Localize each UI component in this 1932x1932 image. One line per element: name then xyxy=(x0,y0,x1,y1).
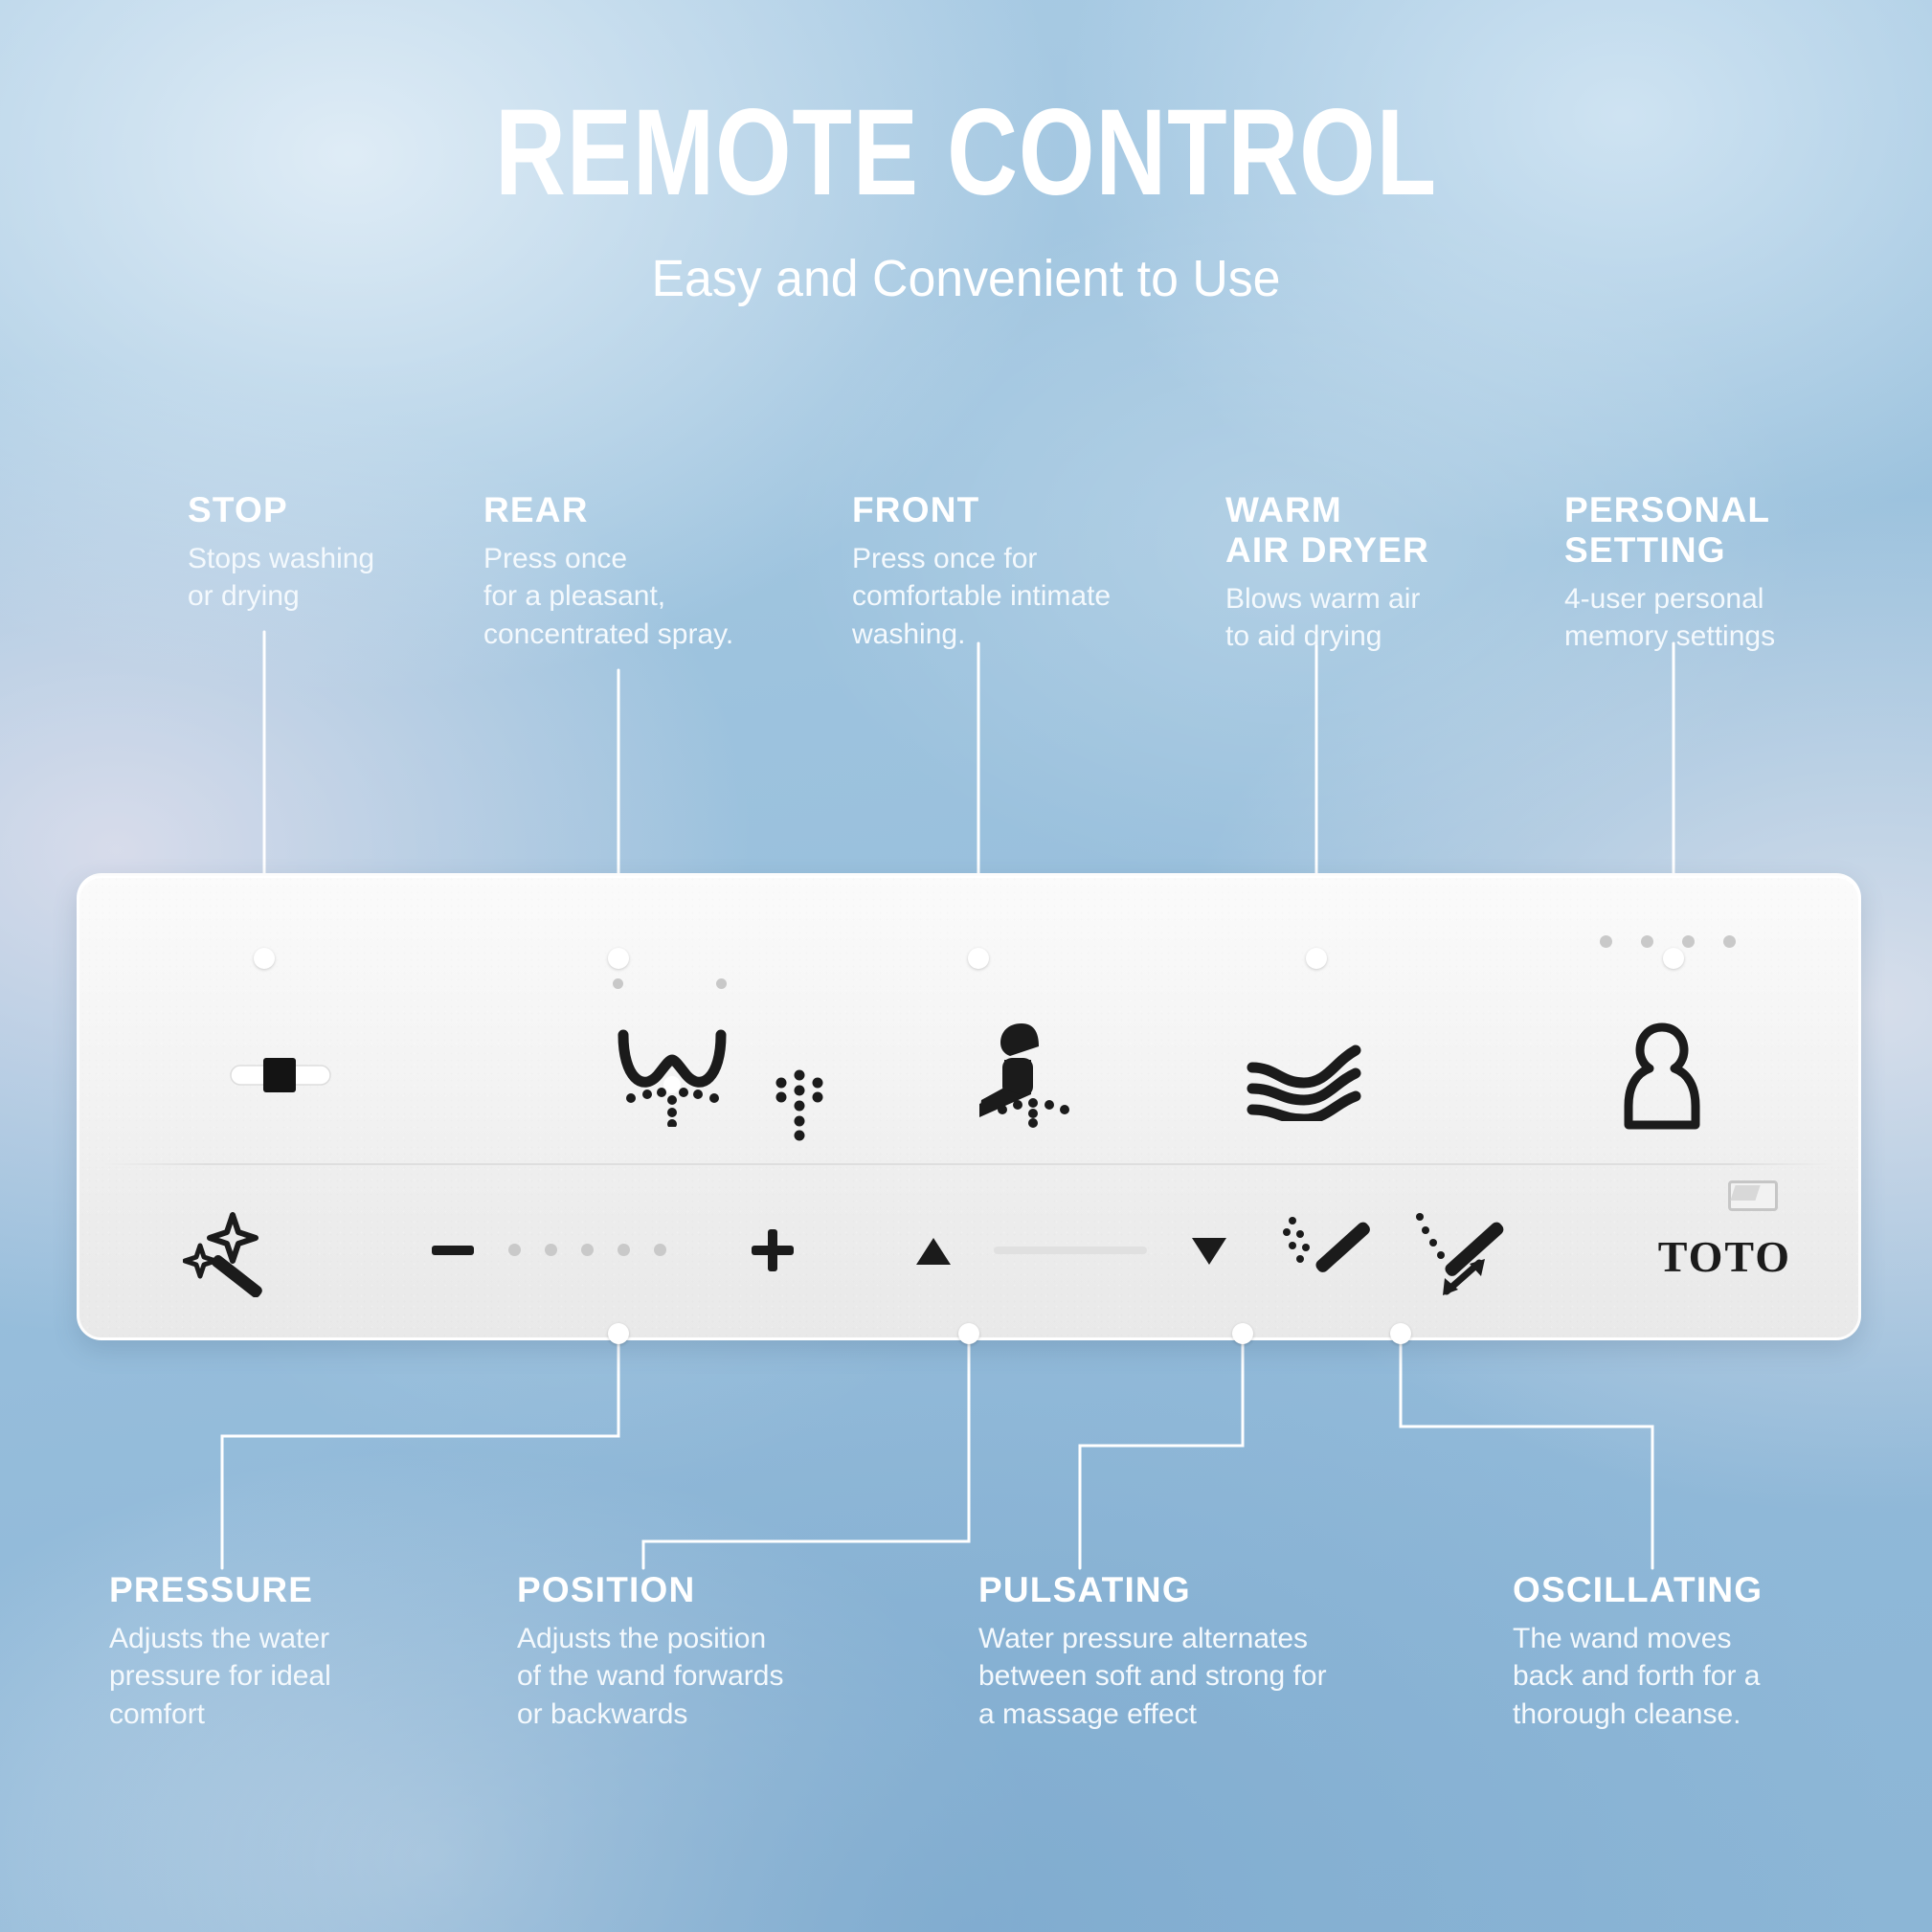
triangle-down-icon xyxy=(1188,1232,1230,1270)
callout-oscillating-body: The wand moves back and forth for a thor… xyxy=(1513,1620,1819,1734)
soft-spray-dots-icon xyxy=(771,1067,828,1144)
memory-dot xyxy=(1641,935,1653,948)
triangle-up-icon xyxy=(912,1232,955,1270)
callout-personal-setting-title: PERSONAL SETTING xyxy=(1564,490,1832,571)
callout-rear-title: REAR xyxy=(483,490,799,530)
position-up-button[interactable] xyxy=(912,1232,955,1270)
page-title: REMOTE CONTROL xyxy=(193,92,1739,214)
callout-warm-air-dryer-title: WARM AIR DRYER xyxy=(1225,490,1494,571)
personal-setting-button[interactable] xyxy=(1619,1018,1705,1133)
anchor-warm-air-dryer xyxy=(1306,948,1327,969)
anchor-front xyxy=(968,948,989,969)
pressure-increase-button[interactable] xyxy=(750,1226,796,1274)
pressure-dot xyxy=(508,1244,521,1256)
callout-rear-body: Press once for a pleasant, concentrated … xyxy=(483,540,799,654)
callout-personal-setting-body: 4-user personal memory settings xyxy=(1564,580,1832,656)
anchor-oscillating xyxy=(1390,1323,1411,1344)
callout-pressure-body: Adjusts the water pressure for ideal com… xyxy=(109,1620,396,1734)
callout-pulsating-body: Water pressure alternates between soft a… xyxy=(978,1620,1361,1734)
remote-control-panel[interactable]: TOTO xyxy=(77,873,1861,1340)
memory-dot xyxy=(1682,935,1695,948)
callout-pressure-title: PRESSURE xyxy=(109,1570,396,1610)
wand-spray-icon xyxy=(1281,1213,1377,1295)
memory-dot xyxy=(1600,935,1612,948)
anchor-pressure xyxy=(608,1323,629,1344)
wand-oscillate-arrow-icon xyxy=(1410,1209,1516,1299)
rear-button[interactable] xyxy=(616,1022,729,1127)
battery-icon xyxy=(1728,1180,1778,1211)
callout-oscillating-title: OSCILLATING xyxy=(1513,1570,1819,1610)
front-wash-seated-figure-icon xyxy=(970,1018,1083,1129)
callout-stop-body: Stops washing or drying xyxy=(188,540,475,616)
pulsating-button[interactable] xyxy=(1281,1213,1377,1295)
callout-stop-title: STOP xyxy=(188,490,475,530)
rear-wash-icon xyxy=(616,1022,729,1127)
minus-icon xyxy=(430,1236,476,1265)
personal-memory-dots xyxy=(1600,935,1736,948)
callout-position-title: POSITION xyxy=(517,1570,833,1610)
pressure-dot xyxy=(545,1244,557,1256)
callout-warm-air-dryer-body: Blows warm air to aid drying xyxy=(1225,580,1494,656)
memory-dot xyxy=(1723,935,1736,948)
callout-pulsating-title: PULSATING xyxy=(978,1570,1361,1610)
callout-front: FRONT Press once for comfortable intimat… xyxy=(852,490,1178,654)
soft-rear-button[interactable] xyxy=(771,1067,828,1144)
position-slider-track[interactable] xyxy=(994,1247,1147,1254)
callout-warm-air-dryer: WARM AIR DRYER Blows warm air to aid dry… xyxy=(1225,490,1494,656)
anchor-dot-soft-rear xyxy=(716,978,727,989)
anchor-stop xyxy=(254,948,275,969)
page-header: REMOTE CONTROL Easy and Convenient to Us… xyxy=(0,92,1932,307)
callout-personal-setting: PERSONAL SETTING 4-user personal memory … xyxy=(1564,490,1832,656)
front-button[interactable] xyxy=(970,1018,1083,1129)
callout-front-body: Press once for comfortable intimate wash… xyxy=(852,540,1178,654)
stop-bar-icon xyxy=(223,1046,338,1104)
callout-position-body: Adjusts the position of the wand forward… xyxy=(517,1620,833,1734)
anchor-dot-rear-small xyxy=(613,978,623,989)
warm-air-dryer-button[interactable] xyxy=(1243,1041,1367,1121)
callout-oscillating: OSCILLATING The wand moves back and fort… xyxy=(1513,1570,1819,1734)
brand-logo: TOTO xyxy=(1658,1231,1791,1282)
plus-icon xyxy=(750,1226,796,1274)
anchor-pulsating xyxy=(1232,1323,1253,1344)
person-outline-icon xyxy=(1619,1018,1705,1133)
pressure-dot xyxy=(618,1244,630,1256)
callout-pressure: PRESSURE Adjusts the water pressure for … xyxy=(109,1570,396,1734)
callout-position: POSITION Adjusts the position of the wan… xyxy=(517,1570,833,1734)
anchor-rear xyxy=(608,948,629,969)
sparkle-wand-icon xyxy=(183,1211,279,1297)
panel-texture xyxy=(79,876,1858,1337)
callout-rear: REAR Press once for a pleasant, concentr… xyxy=(483,490,799,654)
panel-divider xyxy=(102,1163,1835,1165)
position-down-button[interactable] xyxy=(1188,1232,1230,1270)
stop-button[interactable] xyxy=(223,1046,338,1104)
callout-front-title: FRONT xyxy=(852,490,1178,530)
pressure-button[interactable] xyxy=(183,1211,279,1297)
pressure-level-dots xyxy=(508,1244,666,1256)
anchor-position xyxy=(958,1323,979,1344)
pressure-decrease-button[interactable] xyxy=(430,1236,476,1265)
page-subtitle: Easy and Convenient to Use xyxy=(38,251,1893,307)
callout-pulsating: PULSATING Water pressure alternates betw… xyxy=(978,1570,1361,1734)
pressure-dot xyxy=(654,1244,666,1256)
warm-air-waves-icon xyxy=(1243,1041,1367,1121)
anchor-personal-setting xyxy=(1663,948,1684,969)
callout-stop: STOP Stops washing or drying xyxy=(188,490,475,616)
pressure-dot xyxy=(581,1244,594,1256)
oscillating-button[interactable] xyxy=(1410,1209,1516,1299)
